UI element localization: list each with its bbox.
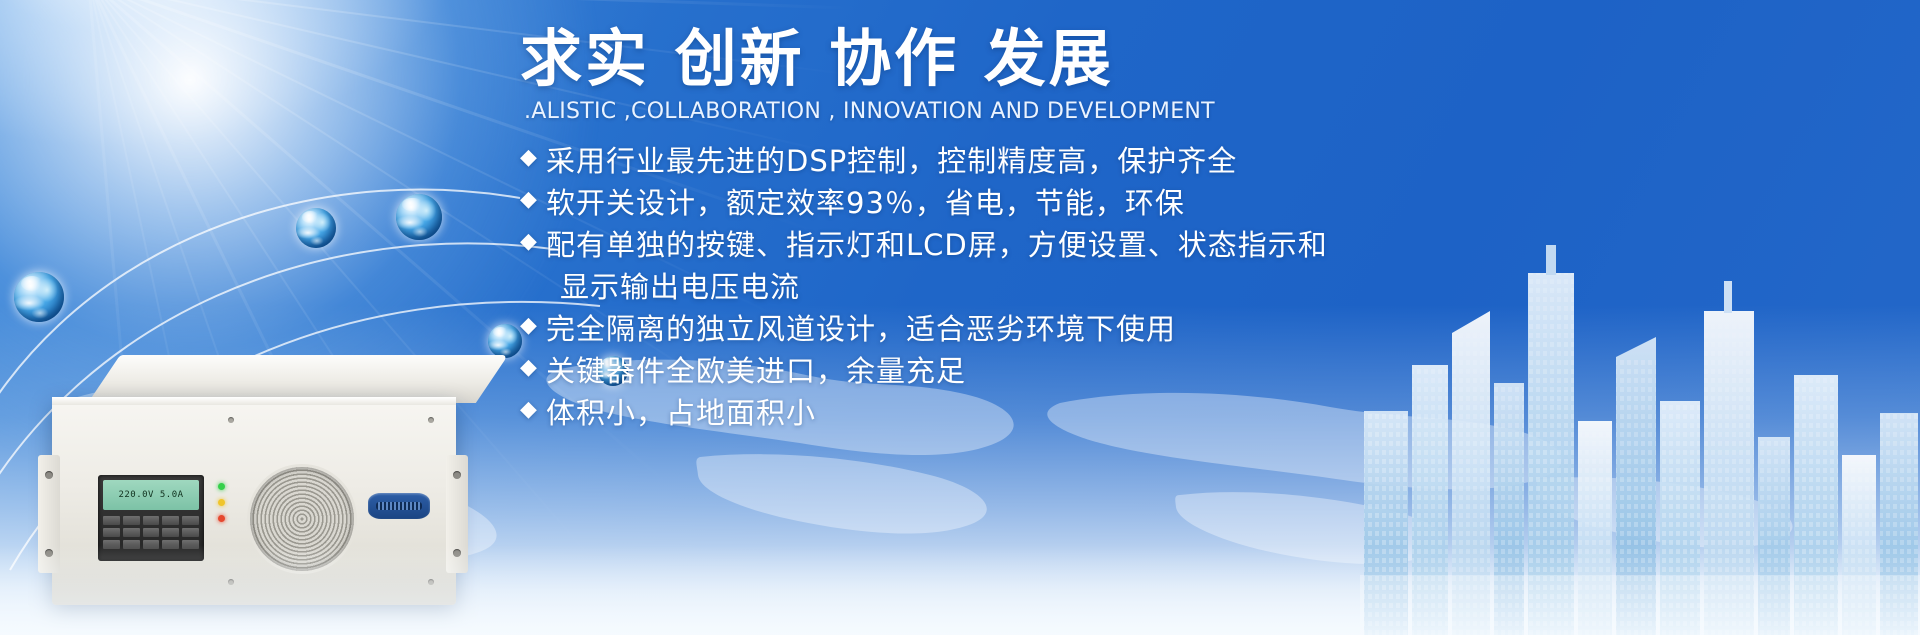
feature-text: 软开关设计，额定效率93％，省电，节能，环保	[546, 182, 1185, 224]
panel-screw	[228, 579, 234, 585]
globe-icon	[14, 272, 64, 322]
panel-screw	[428, 579, 434, 585]
feature-item: ◆体积小，占地面积小	[520, 392, 1460, 434]
feature-text: 配有单独的按键、指示灯和LCD屏，方便设置、状态指示和	[546, 224, 1328, 266]
globe-icon	[396, 194, 442, 240]
feature-item: ◆配有单独的按键、指示灯和LCD屏，方便设置、状态指示和	[520, 224, 1460, 266]
feature-item: ◆显示输出电压电流	[520, 266, 1460, 308]
rack-hole	[45, 549, 53, 557]
feature-item: ◆软开关设计，额定效率93％，省电，节能，环保	[520, 182, 1460, 224]
globe-icon	[296, 208, 336, 248]
page-title: 求实 创新 协作 发展	[520, 22, 1520, 95]
keypad-key[interactable]	[103, 540, 120, 549]
rack-ear-right	[446, 455, 468, 573]
feature-item: ◆采用行业最先进的DSP控制，控制精度高，保护齐全	[520, 140, 1460, 182]
cooling-fan-grille	[250, 467, 354, 571]
status-led	[218, 515, 225, 522]
keypad-key[interactable]	[103, 516, 120, 525]
status-led	[218, 499, 225, 506]
panel-screw	[228, 417, 234, 423]
keypad-key[interactable]	[103, 528, 120, 537]
keypad	[103, 516, 199, 549]
device-front-panel: 220.0V 5.0A	[52, 397, 456, 605]
keypad-key[interactable]	[162, 528, 179, 537]
feature-text: 关键器件全欧美进口，余量充足	[546, 350, 966, 392]
status-led	[218, 483, 225, 490]
keypad-key[interactable]	[143, 528, 160, 537]
headline-block: 求实 创新 协作 发展 .ALISTIC ,COLLABORATION , IN…	[520, 22, 1520, 124]
keypad-key[interactable]	[182, 540, 199, 549]
page-subtitle: .ALISTIC ,COLLABORATION , INNOVATION AND…	[524, 99, 1520, 124]
rack-mount-power-supply: 220.0V 5.0A	[52, 355, 492, 605]
db9-serial-port	[368, 493, 430, 519]
rack-hole	[453, 549, 461, 557]
status-led-group	[218, 483, 225, 522]
keypad-key[interactable]	[143, 516, 160, 525]
diamond-bullet-icon: ◆	[520, 182, 546, 218]
panel-screw	[428, 417, 434, 423]
diamond-bullet-icon: ◆	[520, 308, 546, 344]
promo-banner: 求实 创新 协作 发展 .ALISTIC ,COLLABORATION , IN…	[0, 0, 1920, 635]
control-panel: 220.0V 5.0A	[98, 475, 204, 561]
diamond-bullet-icon: ◆	[520, 224, 546, 260]
globe-icon	[488, 324, 522, 358]
diamond-bullet-icon: ◆	[520, 350, 546, 386]
keypad-key[interactable]	[143, 540, 160, 549]
lcd-display: 220.0V 5.0A	[103, 480, 199, 510]
keypad-key[interactable]	[182, 528, 199, 537]
rack-hole	[45, 471, 53, 479]
feature-text: 体积小，占地面积小	[546, 392, 816, 434]
keypad-key[interactable]	[123, 516, 140, 525]
diamond-bullet-icon: ◆	[520, 140, 546, 176]
feature-item: ◆关键器件全欧美进口，余量充足	[520, 350, 1460, 392]
feature-item: ◆完全隔离的独立风道设计，适合恶劣环境下使用	[520, 308, 1460, 350]
device-top-panel	[88, 355, 508, 403]
keypad-key[interactable]	[162, 540, 179, 549]
feature-list: ◆采用行业最先进的DSP控制，控制精度高，保护齐全◆软开关设计，额定效率93％，…	[520, 140, 1460, 434]
keypad-key[interactable]	[162, 516, 179, 525]
rack-ear-left	[38, 455, 60, 573]
keypad-key[interactable]	[123, 528, 140, 537]
rack-hole	[453, 471, 461, 479]
feature-text: 采用行业最先进的DSP控制，控制精度高，保护齐全	[546, 140, 1237, 182]
feature-text: 完全隔离的独立风道设计，适合恶劣环境下使用	[546, 308, 1176, 350]
feature-text: 显示输出电压电流	[546, 266, 800, 308]
keypad-key[interactable]	[123, 540, 140, 549]
diamond-bullet-icon: ◆	[520, 392, 546, 428]
keypad-key[interactable]	[182, 516, 199, 525]
